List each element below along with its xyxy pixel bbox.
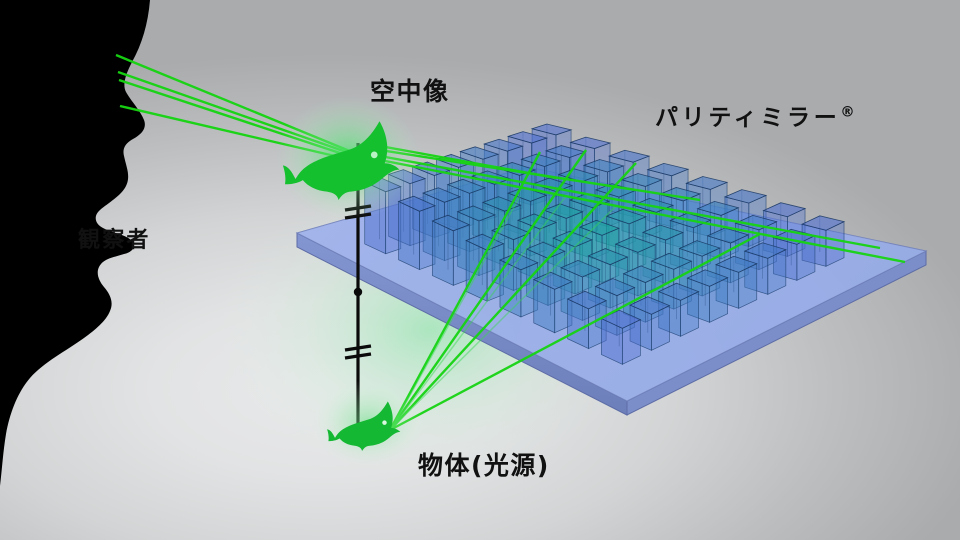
array-element: [601, 310, 640, 364]
label-observer: 観察者: [78, 222, 151, 254]
array-element-face-left: [432, 221, 453, 285]
registered-trademark-icon: ®: [840, 104, 854, 120]
array-element: [432, 215, 469, 285]
aerial-dolphin-eye: [371, 152, 378, 159]
array-element: [399, 196, 435, 269]
aerial-image-dolphin-group: [276, 96, 420, 220]
object-dolphin-eye: [382, 420, 386, 424]
array-element-face-left: [399, 201, 420, 269]
label-aerial-image: 空中像: [370, 72, 450, 108]
label-object-light-source: 物体(光源): [418, 446, 550, 482]
object-dolphin-group: [312, 380, 424, 468]
axis-center-dot: [354, 288, 362, 296]
array-element: [466, 234, 503, 301]
figure-canvas: 空中像 パリティミラー® 観察者 物体(光源): [0, 0, 960, 540]
label-parity-mirror-text: パリティミラー: [655, 105, 840, 131]
label-parity-mirror: パリティミラー®: [655, 98, 855, 132]
